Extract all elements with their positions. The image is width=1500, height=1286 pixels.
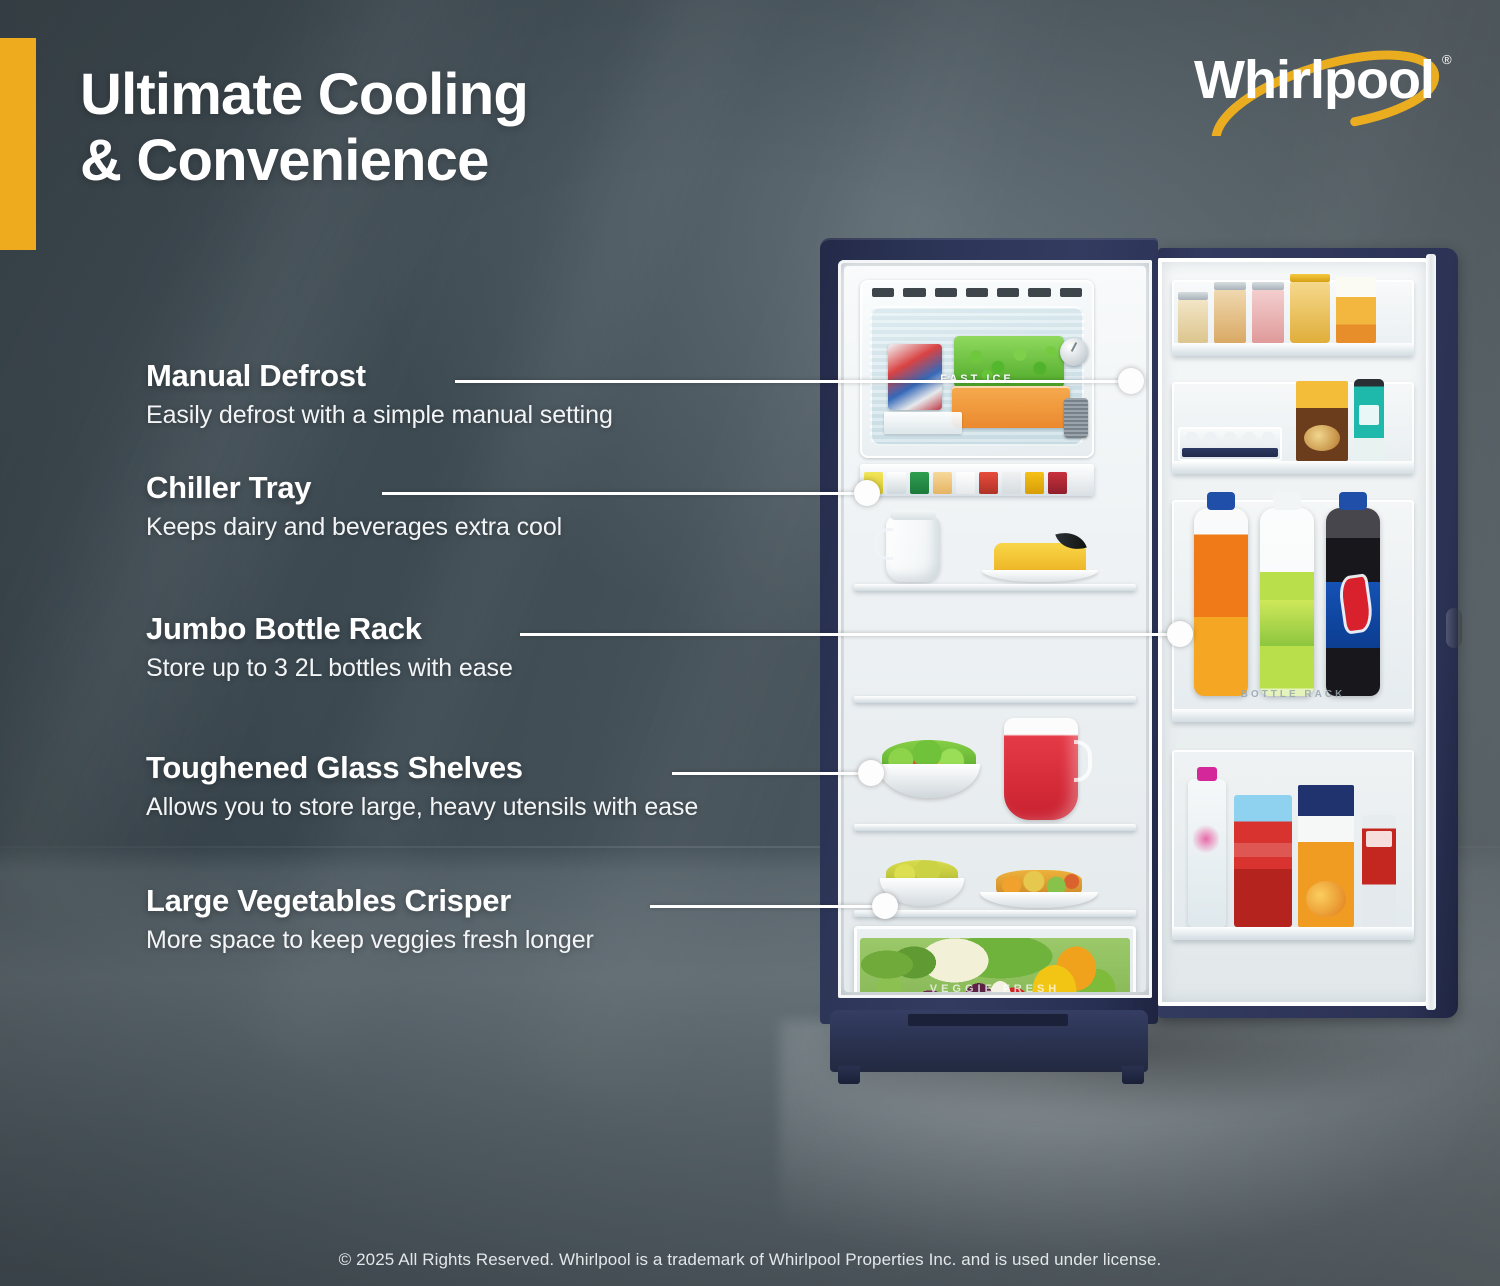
door-bin-bottle-rack: BOTTLE RACK (1172, 500, 1414, 722)
refrigerator-base (830, 1010, 1148, 1072)
feature-title: Large Vegetables Crisper (146, 883, 511, 919)
bin-lip (1172, 709, 1414, 722)
jar-nuts (1178, 299, 1208, 343)
juice-carton-mango (1336, 277, 1376, 343)
cereal-box (1296, 381, 1348, 461)
jar-almonds (1214, 289, 1246, 343)
feature-title: Manual Defrost (146, 358, 366, 394)
accent-bar (0, 38, 36, 250)
juice-pitcher (1004, 718, 1078, 820)
feature-description: Easily defrost with a simple manual sett… (146, 401, 906, 430)
footer-copyright: © 2025 All Rights Reserved. Whirlpool is… (0, 1250, 1500, 1270)
page-title: Ultimate Cooling & Convenience (80, 62, 840, 194)
jar-peanut-butter (1290, 281, 1330, 343)
feature-description: More space to keep veggies fresh longer (146, 926, 906, 955)
whirlpool-logo: Whirlpool ® (1190, 36, 1460, 136)
feature-title: Jumbo Bottle Rack (146, 611, 422, 647)
refrigerator-door: BOTTLE RACK (1158, 248, 1458, 1018)
glass-shelf-3 (854, 824, 1136, 831)
page-title-line-1: Ultimate Cooling (80, 62, 528, 127)
glass-shelf-2 (854, 696, 1136, 703)
jar-snacks (1252, 289, 1284, 343)
bottle-teal (1354, 379, 1384, 461)
feature-chiller-tray: Chiller Tray Keeps dairy and beverages e… (146, 470, 906, 542)
cake-on-plate (982, 534, 1098, 582)
freezer-vents (872, 288, 1082, 297)
bin-lip (1172, 927, 1414, 940)
bin-lip (1172, 461, 1414, 474)
feature-title: Chiller Tray (146, 470, 311, 506)
bin-lip (1172, 343, 1414, 356)
poster-canvas: Ultimate Cooling & Convenience Whirlpool… (0, 0, 1500, 1286)
door-gasket (1426, 254, 1436, 1010)
base-notch (908, 1014, 1068, 1026)
leader-dot-manual-defrost (1118, 368, 1144, 394)
frozen-food-container (952, 386, 1070, 428)
glass-shelf-1 (854, 584, 1136, 591)
water-bottle (1188, 779, 1226, 927)
bottle-orange-soda (1194, 508, 1248, 696)
orange-juice-carton (1298, 785, 1354, 927)
refrigerator-foot-left (838, 1066, 860, 1084)
sauce-bottle (1362, 815, 1396, 927)
door-handle (1446, 608, 1462, 648)
feature-description: Allows you to store large, heavy utensil… (146, 793, 906, 822)
veggie-fresh-label: VEGGIE FRESH (854, 983, 1136, 992)
leader-dot-bottle-rack (1167, 621, 1193, 647)
food-dish (980, 864, 1098, 908)
feature-description: Store up to 3 2L bottles with ease (146, 654, 906, 683)
feature-jumbo-bottle-rack: Jumbo Bottle Rack Store up to 3 2L bottl… (146, 611, 906, 683)
freezer-grille (1064, 398, 1088, 438)
page-title-line-2: & Convenience (80, 128, 840, 194)
feature-title: Toughened Glass Shelves (146, 750, 523, 786)
tomato-ketchup-pack (1234, 795, 1292, 927)
egg-tray (1178, 427, 1282, 461)
refrigerator-foot-right (1122, 1066, 1144, 1084)
temperature-knob[interactable] (1060, 338, 1088, 366)
door-bin-egg (1172, 382, 1414, 474)
feature-description: Keeps dairy and beverages extra cool (146, 513, 906, 542)
svg-text:Whirlpool: Whirlpool (1194, 50, 1434, 110)
feature-toughened-glass-shelves: Toughened Glass Shelves Allows you to st… (146, 750, 906, 822)
bottle-rack-label: BOTTLE RACK (1172, 689, 1414, 700)
door-liner: BOTTLE RACK (1158, 258, 1430, 1006)
door-bin-bottom (1172, 750, 1414, 940)
feature-manual-defrost: Manual Defrost Easily defrost with a sim… (146, 358, 906, 430)
svg-text:®: ® (1442, 52, 1452, 67)
bottle-lemon-lime-soda (1260, 508, 1314, 696)
door-bin-top (1172, 280, 1414, 356)
feature-large-vegetables-crisper: Large Vegetables Crisper More space to k… (146, 883, 906, 955)
